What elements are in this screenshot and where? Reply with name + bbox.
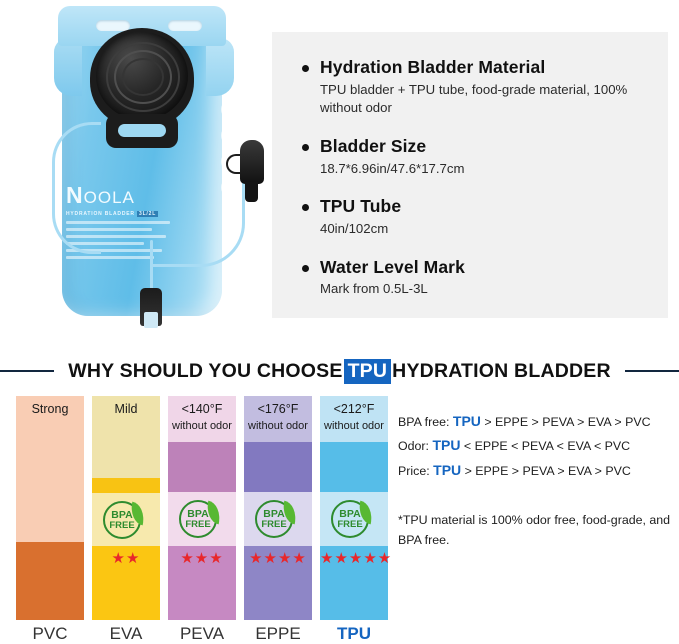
column-bottom-band [16, 542, 84, 620]
comparison-column-peva: <140°Fwithout odorBPAFREE★★★PEVA [168, 396, 236, 620]
header-main-label: Mild [115, 402, 138, 416]
hanger-slot [96, 20, 130, 31]
spec-item: Bladder Size 18.7*6.96in/47.6*17.7cm [298, 135, 642, 178]
bpa-line2: FREE [109, 521, 134, 531]
material-label-peva: PEVA [168, 624, 236, 644]
column-upper-region [244, 430, 312, 442]
shutoff-valve [140, 288, 162, 326]
bladder-shoulder-right [206, 38, 234, 96]
ranking-rest: < EPPE < PEVA < EVA < PVC [464, 439, 630, 453]
ranking-tpu: TPU [453, 413, 481, 429]
column-upper-region [320, 430, 388, 442]
spec-item: Hydration Bladder Material TPU bladder +… [298, 56, 642, 118]
spec-description: TPU bladder + TPU tube, food-grade mater… [320, 81, 642, 118]
header-main-label: <140°F [182, 402, 223, 416]
title-before: WHY SHOULD YOU CHOOSE [68, 360, 342, 383]
column-upper-region [16, 424, 84, 542]
header-main-label: Strong [32, 402, 69, 416]
bullet-icon [302, 65, 309, 72]
ranking-rest: > EPPE > PEVA > EVA > PVC [465, 464, 631, 478]
comparison-column-tpu: <212°Fwithout odorBPAFREE★★★★★TPU [320, 396, 388, 620]
accent-stripe [92, 478, 160, 493]
ranking-line: BPA free: TPU > EPPE > PEVA > EVA > PVC [398, 409, 674, 433]
bpa-free-icon: BPAFREE [179, 499, 225, 539]
spec-description: Mark from 0.5L-3L [320, 280, 642, 299]
cap-ridge [122, 58, 164, 96]
specifications-panel: Hydration Bladder Material TPU bladder +… [272, 32, 668, 318]
bite-valve-cap [240, 140, 264, 184]
column-header: Strong [16, 396, 84, 424]
divider-left [0, 370, 54, 372]
ranking-prefix: BPA free: [398, 415, 449, 429]
comparison-notes: BPA free: TPU > EPPE > PEVA > EVA > PVC … [398, 409, 674, 550]
title-after: HYDRATION BLADDER [392, 360, 611, 383]
hanger-slot [168, 20, 202, 31]
tpu-highlight-chip: TPU [344, 359, 392, 384]
bpa-line1: BPA [111, 510, 132, 521]
column-header: <140°Fwithout odor [168, 396, 236, 430]
bladder-shoulder-left [54, 38, 82, 96]
spec-item: Water Level Mark Mark from 0.5L-3L [298, 256, 642, 299]
bite-valve-stem [245, 182, 258, 202]
bpa-line1: BPA [339, 509, 360, 520]
bpa-line1: BPA [263, 509, 284, 520]
bpa-free-icon: BPAFREE [255, 499, 301, 539]
spec-title: Bladder Size [320, 135, 426, 159]
spec-title: Hydration Bladder Material [320, 56, 545, 80]
bpa-line2: FREE [261, 520, 286, 530]
material-label-eppe: EPPE [244, 624, 312, 644]
divider-right [625, 370, 679, 372]
spec-item: TPU Tube 40in/102cm [298, 195, 642, 238]
column-upper-region [168, 430, 236, 442]
drink-tube [52, 122, 101, 254]
column-header: Mild [92, 396, 160, 424]
ranking-prefix: Odor: [398, 439, 429, 453]
spec-description: 18.7*6.96in/47.6*17.7cm [320, 160, 642, 179]
material-label-tpu: TPU [320, 624, 388, 644]
ranking-prefix: Price: [398, 464, 430, 478]
ranking-tpu: TPU [433, 462, 461, 478]
bpa-line2: FREE [337, 520, 362, 530]
bpa-line1: BPA [187, 509, 208, 520]
bullet-icon [302, 265, 309, 272]
bpa-free-icon: BPAFREE [103, 500, 149, 540]
section-heading: WHY SHOULD YOU CHOOSE TPU HYDRATION BLAD… [0, 356, 679, 386]
star-rating: ★★★★ [244, 551, 312, 566]
spec-title: TPU Tube [320, 195, 401, 219]
ranking-rest: > EPPE > PEVA > EVA > PVC [484, 415, 650, 429]
footnote-text: *TPU material is 100% odor free, food-gr… [398, 510, 674, 550]
product-image: NOOLA HYDRATION BLADDER 3L/2L [44, 4, 256, 322]
bpa-free-icon: BPAFREE [331, 499, 377, 539]
comparison-column-eva: MildBPAFREE★★EVA [92, 396, 160, 620]
header-main-label: <212°F [334, 402, 375, 416]
cap-handle [106, 114, 178, 148]
star-rating: ★★★ [168, 551, 236, 566]
material-label-eva: EVA [92, 624, 160, 644]
column-header: <212°Fwithout odor [320, 396, 388, 430]
spec-description: 40in/102cm [320, 220, 642, 239]
ranking-line: Odor: TPU < EPPE < PEVA < EVA < PVC [398, 433, 674, 457]
ranking-tpu: TPU [432, 437, 460, 453]
header-main-label: <176°F [258, 402, 299, 416]
bullet-icon [302, 144, 309, 151]
ranking-line: Price: TPU > EPPE > PEVA > EVA > PVC [398, 458, 674, 482]
section-title-text: WHY SHOULD YOU CHOOSE TPU HYDRATION BLAD… [68, 359, 611, 384]
bpa-line2: FREE [185, 520, 210, 530]
material-label-pvc: PVC [16, 624, 84, 644]
spec-title: Water Level Mark [320, 256, 465, 280]
star-rating: ★★ [92, 551, 160, 566]
bullet-icon [302, 204, 309, 211]
comparison-column-pvc: StrongPVC [16, 396, 84, 620]
star-rating: ★★★★★ [320, 551, 388, 566]
comparison-column-eppe: <176°Fwithout odorBPAFREE★★★★EPPE [244, 396, 312, 620]
column-header: <176°Fwithout odor [244, 396, 312, 430]
